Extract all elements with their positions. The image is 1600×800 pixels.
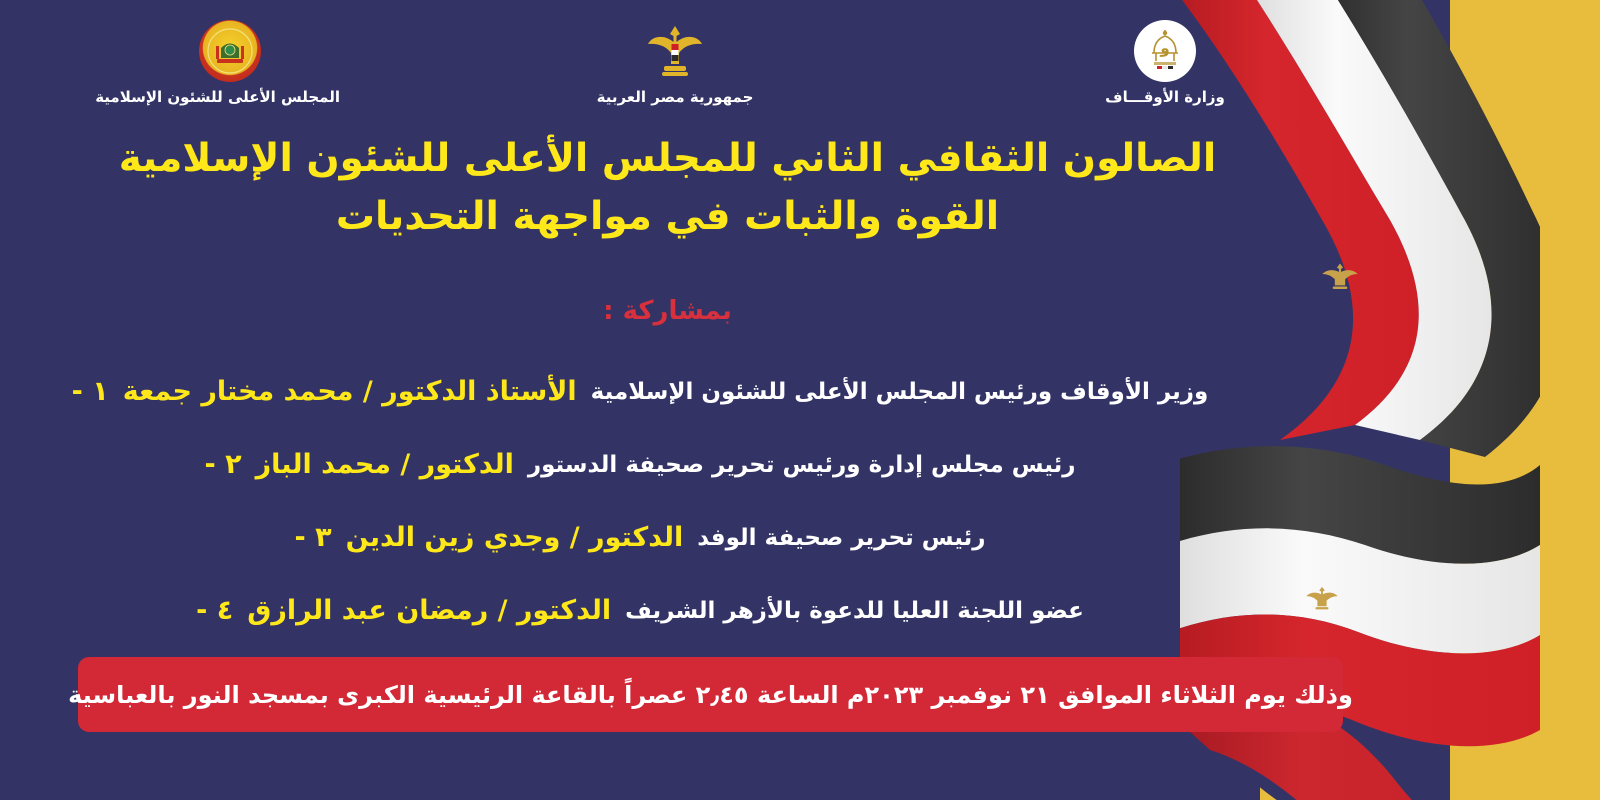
logo-caption-supreme-council: المجلس الأعلى للشئون الإسلامية [120, 88, 340, 106]
participant-role: رئيس تحرير صحيفة الوفد [697, 525, 985, 551]
participant-row: رئيس مجلس إدارة ورئيس تحرير صحيفة الدستو… [0, 428, 1280, 501]
participant-row: رئيس تحرير صحيفة الوفد الدكتور / وجدي زي… [0, 501, 1280, 574]
participation-label: بمشاركة : [60, 296, 1275, 326]
event-poster: المجلس الأعلى للشئون الإسلامية جمهورية م… [0, 0, 1600, 800]
ministry-of-endowments-dome-icon: و [1134, 20, 1196, 82]
participant-name: الدكتور / محمد الباز [256, 449, 514, 480]
logo-supreme-council: المجلس الأعلى للشئون الإسلامية [120, 20, 340, 106]
participants-list: وزير الأوقاف ورئيس المجلس الأعلى للشئون … [0, 355, 1280, 647]
participant-role: وزير الأوقاف ورئيس المجلس الأعلى للشئون … [591, 379, 1209, 405]
title-line-primary: الصالون الثقافي الثاني للمجلس الأعلى للش… [60, 135, 1275, 184]
eagle-of-saladin-icon [644, 20, 706, 82]
participant-role: عضو اللجنة العليا للدعوة بالأزهر الشريف [625, 598, 1084, 624]
participant-row: وزير الأوقاف ورئيس المجلس الأعلى للشئون … [0, 355, 1280, 428]
logo-caption-republic-of-egypt: جمهورية مصر العربية [565, 88, 785, 106]
event-details-banner: وذلك يوم الثلاثاء الموافق ٢١ نوفمبر ٢٠٢٣… [78, 657, 1343, 732]
svg-text:و: و [1159, 39, 1169, 57]
logo-ministry-of-endowments: و وزارة الأوقـــاف [1055, 20, 1275, 106]
event-details-text: وذلك يوم الثلاثاء الموافق ٢١ نوفمبر ٢٠٢٣… [68, 681, 1353, 709]
participant-name: الدكتور / رمضان عبد الرازق [247, 595, 611, 626]
logo-republic-of-egypt: جمهورية مصر العربية [565, 20, 785, 106]
participant-row: عضو اللجنة العليا للدعوة بالأزهر الشريف … [0, 574, 1280, 647]
header-logos: المجلس الأعلى للشئون الإسلامية جمهورية م… [0, 18, 1280, 128]
poster-title: الصالون الثقافي الثاني للمجلس الأعلى للش… [60, 135, 1275, 242]
title-line-secondary: القوة والثبات في مواجهة التحديات [60, 192, 1275, 243]
participant-number: ٣ - [295, 522, 332, 553]
participant-name: الدكتور / وجدي زين الدين [346, 522, 684, 553]
participant-name: الأستاذ الدكتور / محمد مختار جمعة [123, 376, 577, 407]
participant-number: ٤ - [196, 595, 233, 626]
participant-number: ١ - [72, 376, 109, 407]
participant-role: رئيس مجلس إدارة ورئيس تحرير صحيفة الدستو… [528, 452, 1076, 478]
logo-caption-ministry-of-endowments: وزارة الأوقـــاف [1055, 88, 1275, 106]
supreme-council-emblem-icon [199, 20, 261, 82]
participant-number: ٢ - [205, 449, 242, 480]
